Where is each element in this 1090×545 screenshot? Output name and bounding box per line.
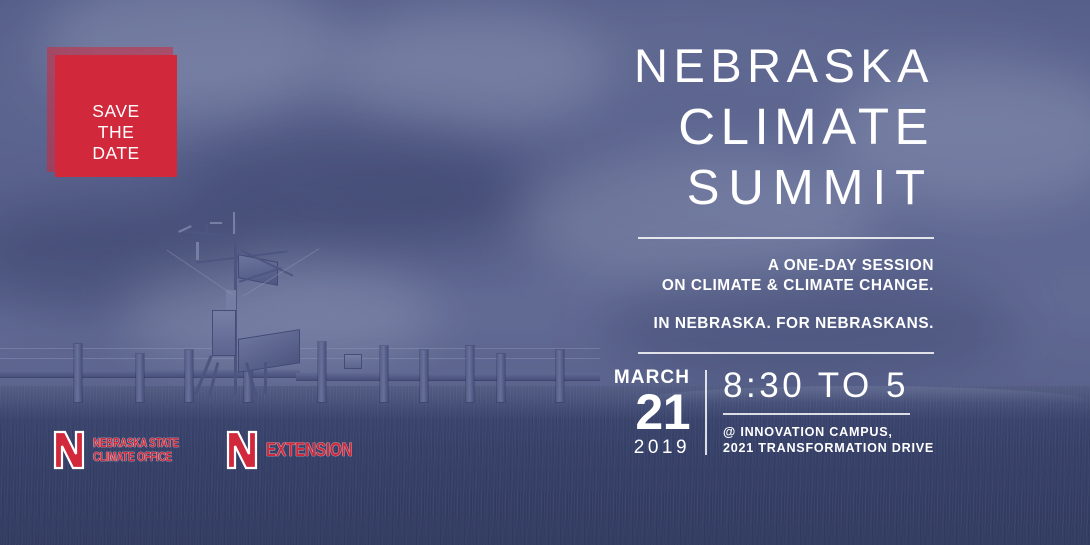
- divider-rule-top: [638, 237, 934, 239]
- logo-text-climate-office: NEBRASKA STATE CLIMATE OFFICE: [93, 437, 179, 464]
- logo-text-extension: EXTENSION: [266, 441, 352, 460]
- tagline: IN NEBRASKA. FOR NEBRASKANS.: [600, 315, 934, 333]
- event-year: 2019: [634, 437, 690, 459]
- nebraska-n-logo-icon: [225, 430, 259, 470]
- date-column: MARCH 21 2019: [614, 368, 705, 459]
- venue-line-2: 2021 TRANSFORMATION DRIVE: [723, 440, 934, 456]
- headline-line-climate: CLIMATE: [600, 101, 934, 152]
- logo-text-line-1: EXTENSION: [266, 440, 352, 461]
- sponsor-logos: NEBRASKA STATE CLIMATE OFFICE EXTENSION: [52, 430, 374, 470]
- venue-line-1: @ INNOVATION CAMPUS,: [723, 424, 934, 440]
- logo-nebraska-extension: EXTENSION: [225, 430, 374, 470]
- time-venue-column: 8:30 TO 5 @ INNOVATION CAMPUS, 2021 TRAN…: [707, 368, 934, 459]
- description-line-2: ON CLIMATE & CLIMATE CHANGE.: [600, 276, 934, 296]
- logo-text-line-2: CLIMATE OFFICE: [93, 451, 179, 464]
- logo-text-line-1: NEBRASKA STATE: [93, 436, 179, 450]
- badge-line-date: DATE: [92, 143, 139, 164]
- headline-line-summit: SUMMIT: [600, 164, 934, 213]
- nebraska-n-logo-icon: [52, 430, 86, 470]
- event-info-column: NEBRASKA CLIMATE SUMMIT A ONE-DAY SESSIO…: [600, 42, 934, 459]
- event-day: 21: [635, 389, 690, 435]
- description-block: A ONE-DAY SESSION ON CLIMATE & CLIMATE C…: [600, 256, 934, 296]
- headline-line-nebraska: NEBRASKA: [604, 42, 934, 89]
- logo-nebraska-state-climate-office: NEBRASKA STATE CLIMATE OFFICE: [52, 430, 203, 470]
- venue-address: @ INNOVATION CAMPUS, 2021 TRANSFORMATION…: [723, 424, 934, 456]
- divider-rule-bottom: [638, 352, 934, 354]
- divider-rule-venue: [723, 413, 910, 415]
- save-the-date-poster: SAVE THE DATE NEBRASKA CLIMATE SUMMIT A …: [0, 0, 1090, 545]
- date-time-block: MARCH 21 2019 8:30 TO 5 @ INNOVATION CAM…: [600, 368, 934, 459]
- save-the-date-badge: SAVE THE DATE: [47, 47, 197, 192]
- badge-text-group: SAVE THE DATE: [55, 55, 177, 177]
- event-time: 8:30 TO 5: [723, 368, 934, 404]
- badge-line-save: SAVE: [92, 101, 139, 122]
- badge-line-the: THE: [98, 122, 135, 143]
- description-line-1: A ONE-DAY SESSION: [600, 256, 934, 276]
